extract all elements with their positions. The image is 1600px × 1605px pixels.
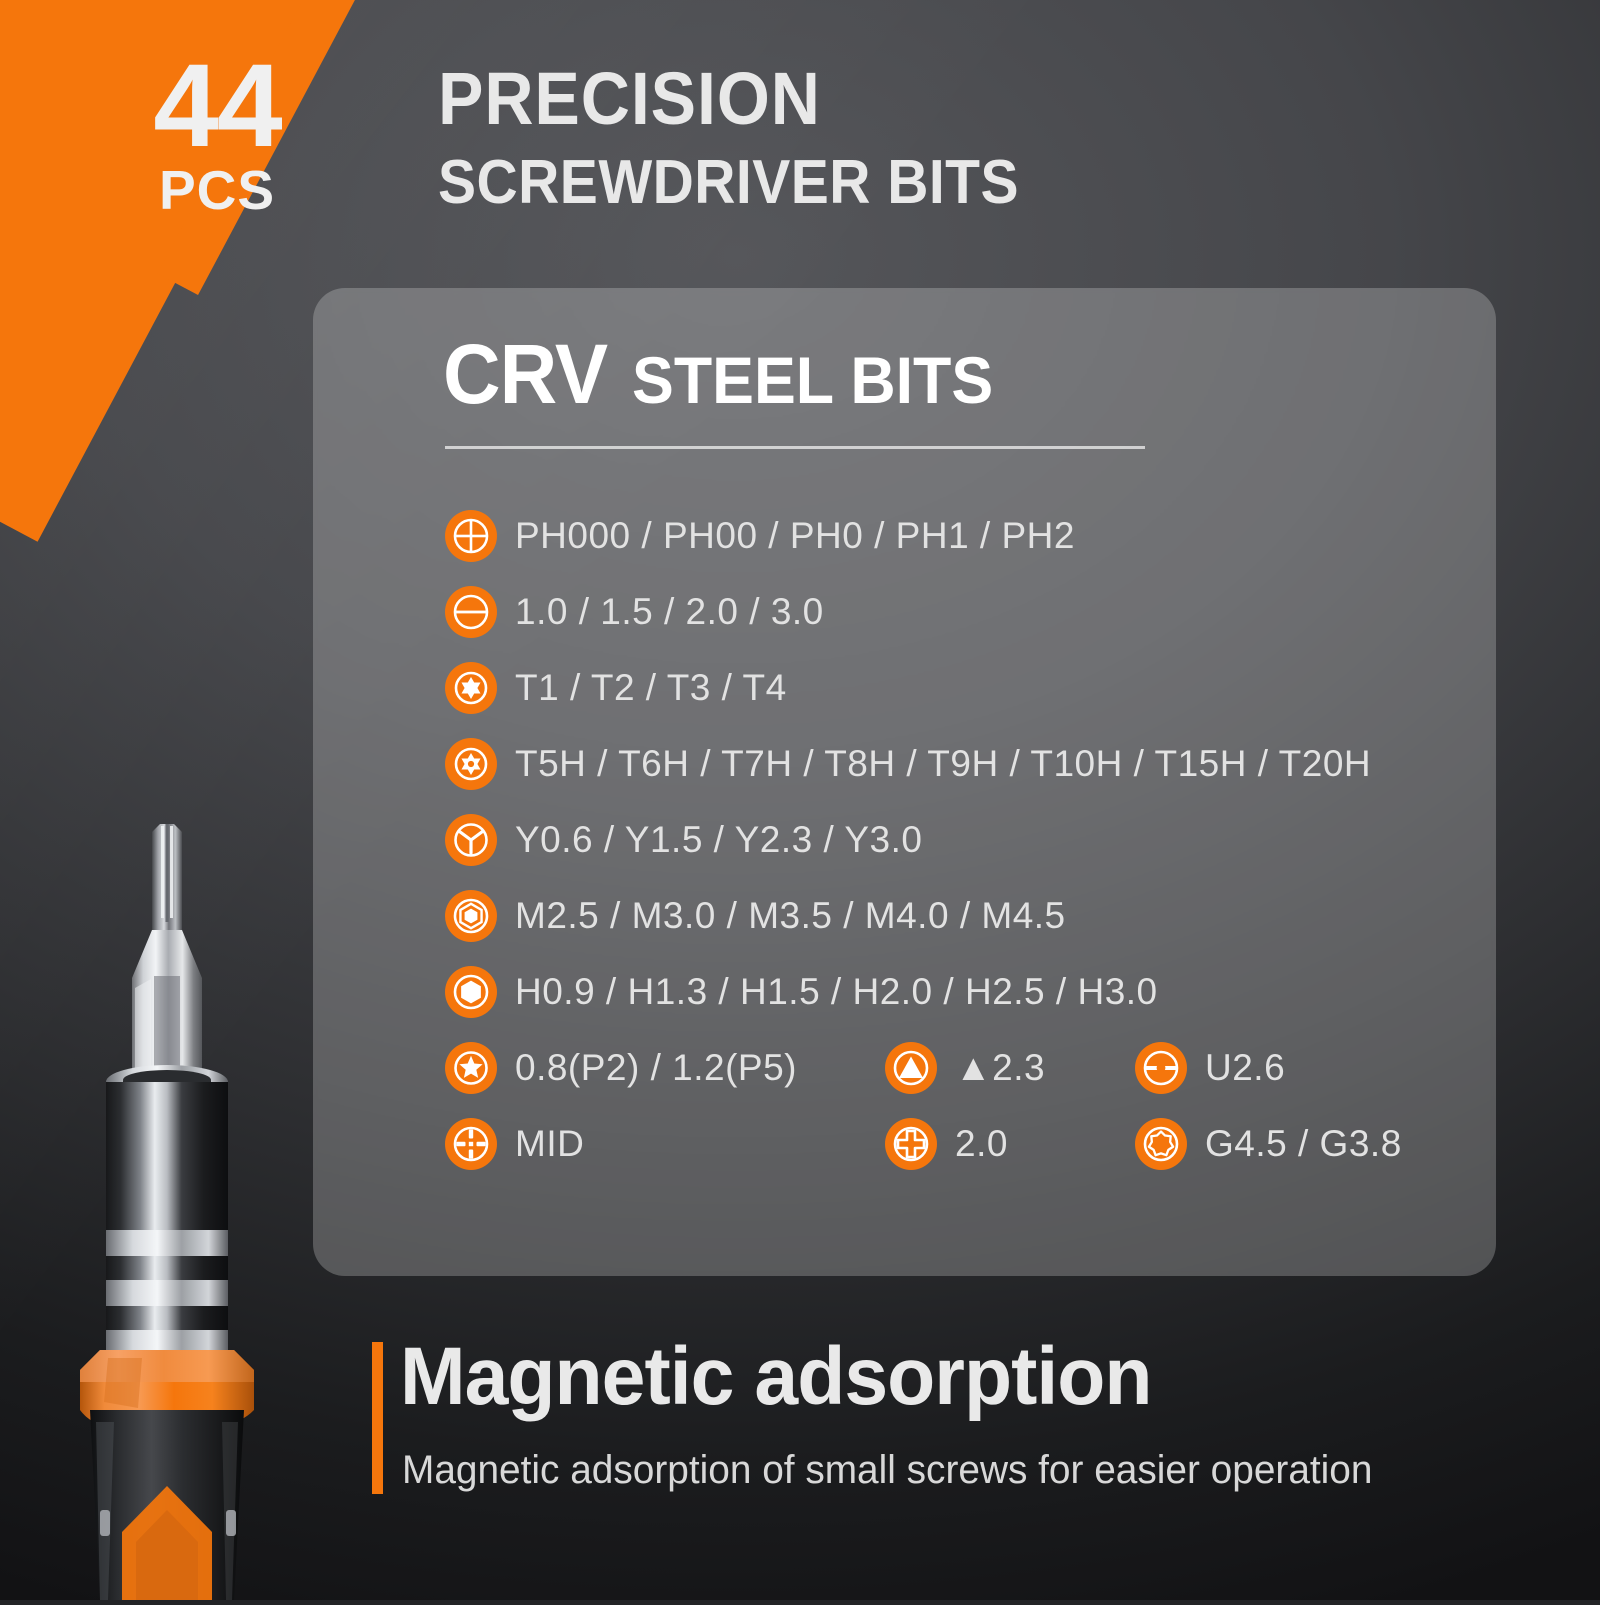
bit-spec-label: 2.0: [955, 1123, 1008, 1165]
bit-spec-item: M2.5 / M3.0 / M3.5 / M4.0 / M4.5: [445, 890, 1066, 942]
tri-wing-y-icon: [445, 814, 497, 866]
barrel: [106, 1082, 228, 1230]
cross-dots-icon: [445, 1118, 497, 1170]
panel-divider: [445, 446, 1145, 449]
panel-heading-strong: CRV: [443, 326, 607, 423]
u-slot-icon: [1135, 1042, 1187, 1094]
bit-spec-row: H0.9 / H1.3 / H1.5 / H2.0 / H2.5 / H3.0: [445, 954, 1455, 1030]
feature-subtitle: Magnetic adsorption of small screws for …: [402, 1448, 1372, 1493]
bit-spec-list: PH000 / PH00 / PH0 / PH1 / PH2 1.0 / 1.5…: [445, 498, 1455, 1182]
bit-spec-item: T5H / T6H / T7H / T8H / T9H / T10H / T15…: [445, 738, 1371, 790]
panel-heading-rest: STEEL BITS: [632, 342, 993, 418]
accent-bar: [372, 1342, 383, 1494]
bit-spec-row: 1.0 / 1.5 / 2.0 / 3.0: [445, 574, 1455, 650]
banner-text: 44 PCS: [92, 52, 342, 218]
bit-spec-row: Y0.6 / Y1.5 / Y2.3 / Y3.0: [445, 802, 1455, 878]
page-title: PRECISION SCREWDRIVER BITS: [438, 62, 1338, 214]
title-line-2: SCREWDRIVER BITS: [438, 152, 1266, 214]
bit-spec-label: M2.5 / M3.0 / M3.5 / M4.0 / M4.5: [515, 895, 1066, 937]
bit-spec-item: U2.6: [1135, 1042, 1285, 1094]
bit-spec-row: PH000 / PH00 / PH0 / PH1 / PH2: [445, 498, 1455, 574]
bit-spec-row: T1 / T2 / T3 / T4: [445, 650, 1455, 726]
bit-spec-label: T1 / T2 / T3 / T4: [515, 667, 787, 709]
bit-spec-item: 2.0: [885, 1118, 1008, 1170]
phillips-cross-icon: [445, 510, 497, 562]
bit-tip: [152, 824, 182, 932]
bit-spec-row: M2.5 / M3.0 / M3.5 / M4.0 / M4.5: [445, 878, 1455, 954]
handle-grip: [90, 1410, 244, 1600]
bit-spec-label: MID: [515, 1123, 584, 1165]
slotted-minus-icon: [445, 586, 497, 638]
bit-spec-item: PH000 / PH00 / PH0 / PH1 / PH2: [445, 510, 1075, 562]
hex-solid-icon: [445, 966, 497, 1018]
spec-panel: CRVSTEEL BITS PH000 / PH00 / PH0 / PH1 /…: [313, 288, 1496, 1276]
screwdriver-illustration: [56, 810, 356, 1600]
bit-spec-label: 0.8(P2) / 1.2(P5): [515, 1047, 797, 1089]
pentalobe-star-icon: [445, 1042, 497, 1094]
title-line-1: PRECISION: [438, 62, 1266, 136]
bit-spec-row: 0.8(P2) / 1.2(P5) ▲2.3 U2.6: [445, 1030, 1455, 1106]
thick-cross-icon: [885, 1118, 937, 1170]
bit-spec-label: Y0.6 / Y1.5 / Y2.3 / Y3.0: [515, 819, 922, 861]
gear-lobe-icon: [1135, 1118, 1187, 1170]
torx-security-star-icon: [445, 738, 497, 790]
bit-spec-label: H0.9 / H1.3 / H1.5 / H2.0 / H2.5 / H3.0: [515, 971, 1158, 1013]
triangle-icon: [885, 1042, 937, 1094]
hex-socket-outline-icon: [445, 890, 497, 942]
bit-spec-item: 1.0 / 1.5 / 2.0 / 3.0: [445, 586, 824, 638]
bit-spec-row: MID 2.0 G4.5 / G3.8: [445, 1106, 1455, 1182]
bit-spec-item: H0.9 / H1.3 / H1.5 / H2.0 / H2.5 / H3.0: [445, 966, 1158, 1018]
banner-count: 44: [92, 52, 342, 161]
bit-spec-item: ▲2.3: [885, 1042, 1045, 1094]
bit-spec-label: PH000 / PH00 / PH0 / PH1 / PH2: [515, 515, 1075, 557]
bit-spec-item: T1 / T2 / T3 / T4: [445, 662, 787, 714]
bit-spec-item: G4.5 / G3.8: [1135, 1118, 1402, 1170]
bit-spec-label: T5H / T6H / T7H / T8H / T9H / T10H / T15…: [515, 743, 1371, 785]
bit-spec-item: Y0.6 / Y1.5 / Y2.3 / Y3.0: [445, 814, 922, 866]
panel-heading: CRVSTEEL BITS: [443, 326, 1012, 423]
bit-spec-label: G4.5 / G3.8: [1205, 1123, 1402, 1165]
torx-star-icon: [445, 662, 497, 714]
knurl-rings: [106, 1230, 228, 1356]
bit-spec-label: U2.6: [1205, 1047, 1285, 1089]
banner-unit: PCS: [92, 163, 342, 218]
bit-spec-label: 1.0 / 1.5 / 2.0 / 3.0: [515, 591, 824, 633]
bit-spec-label: ▲2.3: [955, 1047, 1045, 1089]
bit-spec-item: MID: [445, 1118, 584, 1170]
bit-spec-row: T5H / T6H / T7H / T8H / T9H / T10H / T15…: [445, 726, 1455, 802]
feature-headline: Magnetic adsorption: [400, 1336, 1152, 1418]
bit-spec-item: 0.8(P2) / 1.2(P5): [445, 1042, 797, 1094]
